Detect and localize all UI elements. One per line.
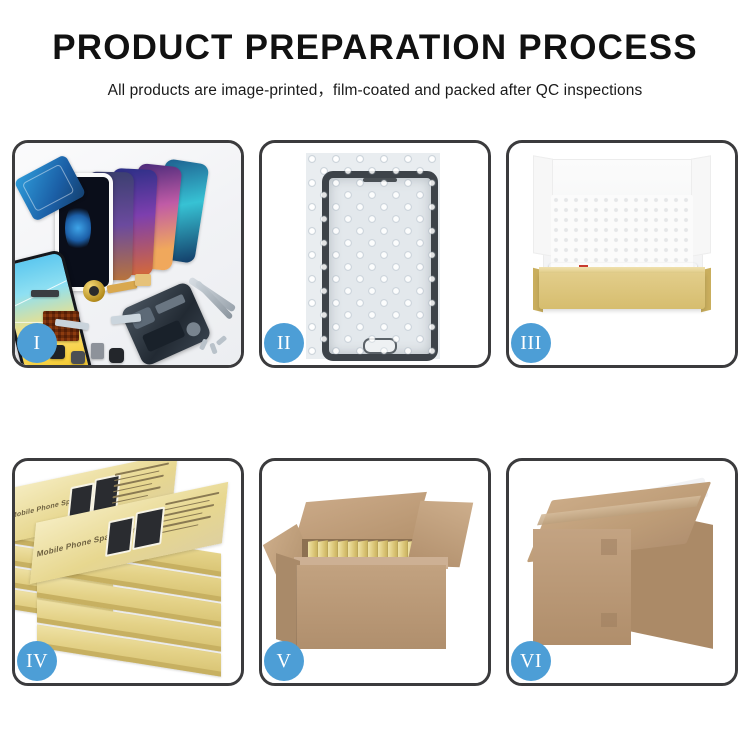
chassis-battery xyxy=(142,320,186,353)
page-subtitle: All products are image-printed，film-coat… xyxy=(0,78,750,100)
bubble-wrap-sheet xyxy=(306,153,440,359)
carton-handle-tab xyxy=(601,539,617,555)
step-badge-6: VI xyxy=(511,641,551,681)
process-step-panel-5: V xyxy=(259,458,491,686)
box-edge xyxy=(37,642,221,676)
component-chip xyxy=(109,348,124,363)
chassis-part xyxy=(155,294,186,314)
box-phone-thumbnail xyxy=(132,506,165,550)
step-badge-5: V xyxy=(264,641,304,681)
component-chip xyxy=(31,290,59,297)
step-badge-2: II xyxy=(264,323,304,363)
box-flap-right xyxy=(691,155,711,257)
carton-front-face xyxy=(296,565,446,649)
process-step-panel-3: III xyxy=(506,140,738,368)
page-header: PRODUCT PREPARATION PROCESS All products… xyxy=(0,0,750,100)
box-front-panel xyxy=(539,273,705,309)
flex-cable-icon xyxy=(135,274,151,286)
speaker-coil-icon xyxy=(83,280,105,302)
component-chip xyxy=(91,343,104,359)
carton-edge xyxy=(296,565,297,649)
process-step-panel-1: I xyxy=(12,140,244,368)
carton-handle-tab xyxy=(601,613,617,627)
box-spec-lines xyxy=(162,492,219,537)
step-badge-1: I xyxy=(17,323,57,363)
step-badge-4: IV xyxy=(17,641,57,681)
step-badge-3: III xyxy=(511,323,551,363)
process-step-panel-2: II xyxy=(259,140,491,368)
process-step-grid: I II xyxy=(12,140,738,686)
foam-lining xyxy=(551,195,693,273)
process-step-panel-4: Mobile Phone Spare Parts Mobile Phone Sp… xyxy=(12,458,244,686)
chassis-camera xyxy=(184,320,202,338)
box-phone-thumbnail xyxy=(105,516,135,557)
bubble-wrap-overlay xyxy=(306,153,440,359)
page-title: PRODUCT PREPARATION PROCESS xyxy=(0,30,750,67)
component-chip xyxy=(71,351,85,364)
box-flap-left xyxy=(533,155,553,257)
process-step-panel-6: VI xyxy=(506,458,738,686)
